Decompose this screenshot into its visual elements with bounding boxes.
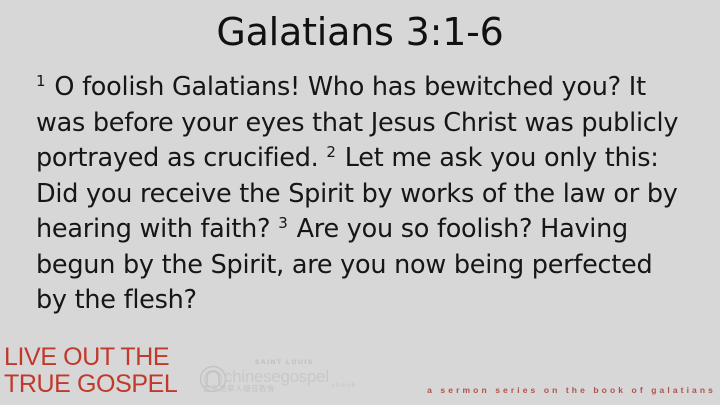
verse-number-1: 1 [36,72,47,90]
scripture-passage: 1 O foolish Galatians! Who has bewitched… [36,70,686,319]
church-logo-tld: .church [329,383,356,389]
page-title: Galatians 3:1-6 [0,6,720,58]
verse-number-3: 3 [278,214,289,232]
series-title: LIVE OUT THE TRUE GOSPEL [4,344,177,398]
sermon-series-tag: a sermon series on the book of galatians [427,385,716,395]
presentation-slide: Galatians 3:1-6 1 O foolish Galatians! W… [0,0,720,405]
series-title-line-2: TRUE GOSPEL [4,371,177,398]
series-title-line-1: LIVE OUT THE [4,344,177,371]
church-logo-chinese-name: 聖路易華人福音教會 [203,383,275,394]
church-logo: SAINT LOUIS chinesegospel .church 聖路易華人福… [199,359,364,397]
verse-number-2: 2 [326,143,337,161]
church-logo-city: SAINT LOUIS [255,359,314,366]
